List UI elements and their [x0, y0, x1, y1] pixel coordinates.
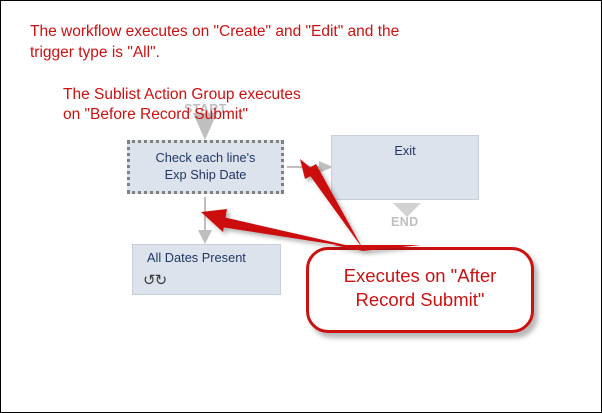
- annotation-top-note: The workflow executes on "Create" and "E…: [30, 21, 399, 63]
- node-exit-title: Exit: [332, 136, 478, 158]
- callout-balloon: Executes on "After Record Submit": [306, 247, 534, 333]
- annotation-sublist-note: The Sublist Action Group executes on "Be…: [63, 85, 301, 125]
- node-check-each-lines-exp-ship-date[interactable]: Check each line's Exp Ship Date: [127, 140, 284, 194]
- node-all-dates-title: All Dates Present: [133, 245, 280, 265]
- end-label: END: [391, 215, 419, 229]
- workflow-diagram-screenshot: START END Check each line's Exp Ship Dat…: [0, 0, 602, 413]
- node-check-lines-title: Check each line's Exp Ship Date: [130, 143, 281, 183]
- callout-text: Executes on "After Record Submit": [309, 250, 531, 312]
- loop-icon: ↺↻: [143, 273, 166, 288]
- node-exit[interactable]: Exit: [331, 135, 479, 200]
- node-all-dates-present[interactable]: All Dates Present ↺↻: [132, 244, 281, 295]
- connector-check-to-exit: [287, 161, 333, 173]
- connector-check-to-alldates: [198, 197, 212, 244]
